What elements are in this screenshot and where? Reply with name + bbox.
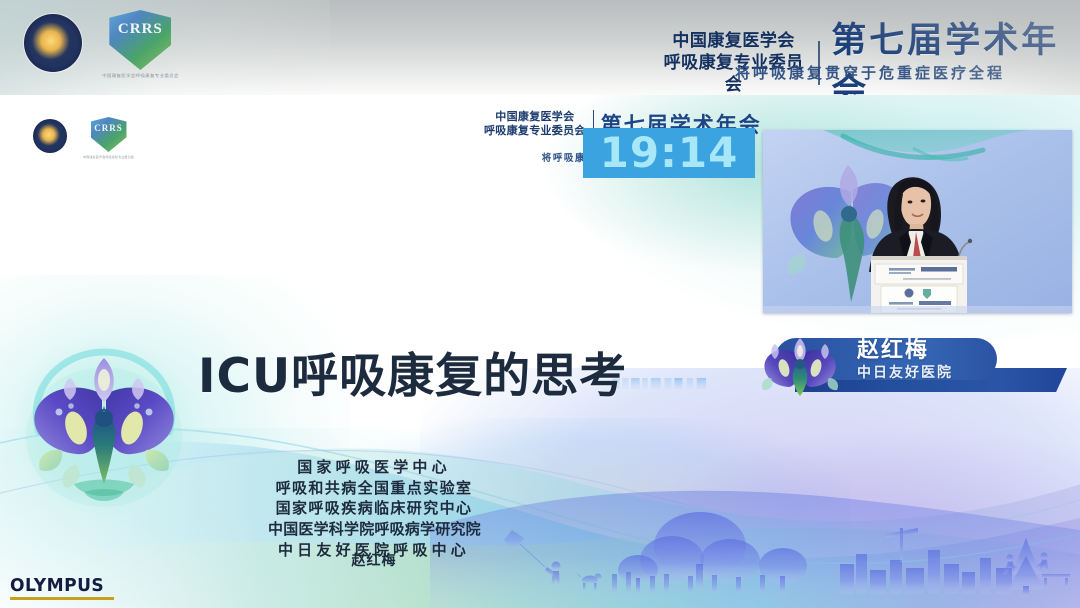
live-speaker-video-inset[interactable] [763, 130, 1072, 313]
olympus-watermark: OLYMPUS [10, 575, 104, 596]
header-logo-caption: 中国康复医学会呼吸康复专业委员会 [102, 73, 179, 78]
header-org-line-1: 中国康复医学会 [660, 30, 807, 52]
header-event-title: 第七届学术年会 [831, 12, 1080, 95]
timestamp-text: 19:14 [600, 132, 739, 174]
affiliation-line-3: 国家呼吸疾病临床研究中心 [268, 498, 480, 519]
olympus-watermark-underline [10, 597, 114, 600]
peacock-lotus-emblem [14, 332, 194, 517]
slide-logo-group: CRRS 中国康复医学会呼吸康复专业委员会 [33, 117, 134, 159]
slide-association-circular-emblem-icon [33, 119, 67, 153]
speaker-name-banner: 赵红梅 中日友好医院 [757, 332, 1072, 398]
slide-org-line-1: 中国康复医学会 [484, 110, 586, 124]
name-banner-peacock-emblem [757, 332, 843, 396]
header-subtitle: 将呼吸康复贯穿于危重症医疗全程 [690, 62, 1050, 83]
slide-logo-caption: 中国康复医学会呼吸康复专业委员会 [83, 154, 134, 158]
slide-crrs-shield-letters: CRRS [91, 123, 127, 133]
page-title: ICU呼吸康复的思考 [198, 337, 627, 406]
affiliation-list: 国家呼吸医学中心 呼吸和共病全国重点实验室 国家呼吸疾病临床研究中心 中国医学科… [268, 457, 480, 560]
slide-org-line-2: 呼吸康复专业委员会 [484, 124, 586, 138]
conference-header-band: CRRS 中国康复医学会呼吸康复专业委员会 中国康复医学会 呼吸康复专业委员会 … [0, 0, 1080, 95]
association-circular-emblem-icon [24, 14, 82, 72]
header-logo-group: CRRS 中国康复医学会呼吸康复专业委员会 [24, 10, 179, 79]
timestamp-overlay: 19:14 [583, 128, 755, 178]
slide-speaker-name: 赵红梅 [268, 550, 480, 570]
name-banner-speaker-name: 赵红梅 [857, 338, 1007, 363]
crrs-shield-letters: CRRS [109, 21, 171, 38]
name-banner-organization: 中日友好医院 [857, 364, 1007, 382]
affiliation-line-4: 中国医学科学院呼吸病学研究院 [268, 519, 480, 540]
slide-crrs-shield-logo-icon: CRRS [91, 117, 127, 152]
affiliation-line-2: 呼吸和共病全国重点实验室 [268, 478, 480, 499]
screenshot-root: CRRS 中国康复医学会呼吸康复专业委员会 中国康复医学会 呼吸康复专业委员会 … [0, 0, 1080, 608]
crrs-shield-logo-icon: CRRS [109, 10, 171, 70]
name-banner-text: 赵红梅 中日友好医院 [857, 338, 1007, 382]
header-title-divider [818, 41, 820, 85]
affiliation-line-1: 国家呼吸医学中心 [268, 457, 480, 478]
